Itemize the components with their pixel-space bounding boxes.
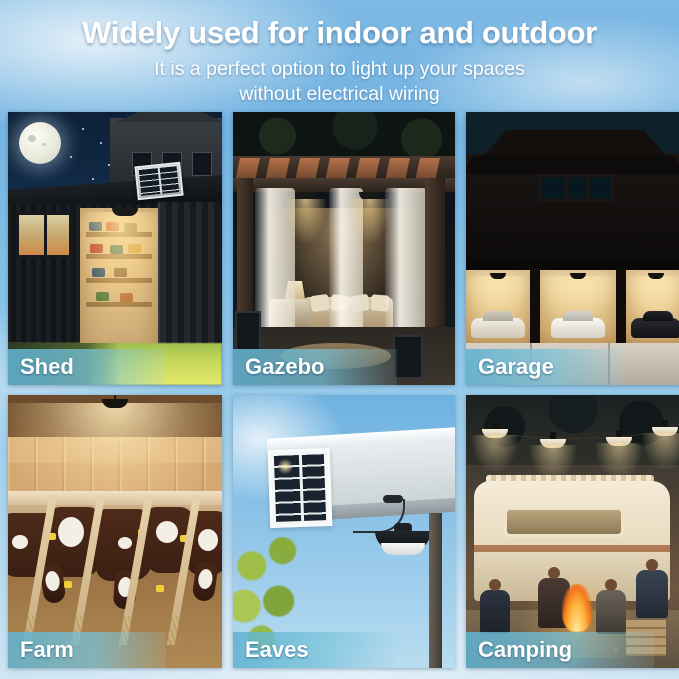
eaves-scene-image <box>233 395 455 668</box>
use-case-grid: Shed <box>8 112 672 668</box>
garage-bay <box>466 270 530 344</box>
gazebo-scene-image <box>233 112 455 385</box>
pendant-light-icon <box>540 439 566 448</box>
pendant-light-icon <box>606 437 632 446</box>
tile-label-gazebo: Gazebo <box>233 349 397 385</box>
farm-scene-image <box>8 395 222 668</box>
tile-label-text: Eaves <box>233 639 309 661</box>
tile-label-shed: Shed <box>8 349 166 385</box>
tile-camping[interactable]: Camping <box>466 395 679 668</box>
solar-panel-icon <box>134 162 183 201</box>
tile-label-garage: Garage <box>466 349 624 385</box>
page-subtitle: It is a perfect option to light up your … <box>0 48 679 107</box>
pendant-light-icon <box>359 192 381 201</box>
person <box>480 590 510 634</box>
garage-bay <box>626 270 679 344</box>
tile-label-camping: Camping <box>466 632 654 668</box>
pendant-light-icon <box>652 427 678 436</box>
tile-label-text: Shed <box>8 356 74 378</box>
tile-label-text: Farm <box>8 639 74 661</box>
person <box>636 570 668 618</box>
person <box>596 590 626 634</box>
pendant-light-icon <box>295 192 317 201</box>
pendant-light-icon <box>482 429 508 438</box>
tile-farm[interactable]: Farm <box>8 395 222 668</box>
solar-lantern-icon <box>393 335 423 379</box>
header: Widely used for indoor and outdoor It is… <box>0 0 679 112</box>
subtitle-line-1: It is a perfect option to light up your … <box>0 57 679 82</box>
solar-panel-icon <box>235 311 261 351</box>
tile-eaves[interactable]: Eaves <box>233 395 455 668</box>
pendant-light-icon <box>112 208 138 216</box>
page-title: Widely used for indoor and outdoor <box>0 0 679 48</box>
campfire-icon <box>562 584 592 632</box>
tile-label-text: Garage <box>466 356 554 378</box>
tile-label-text: Gazebo <box>233 356 324 378</box>
tile-garage[interactable]: Garage <box>466 112 679 385</box>
tile-gazebo[interactable]: Gazebo <box>233 112 455 385</box>
camping-scene-image <box>466 395 679 668</box>
tile-label-farm: Farm <box>8 632 166 668</box>
tile-shed[interactable]: Shed <box>8 112 222 385</box>
garage-scene-image <box>466 112 679 385</box>
solar-panel-icon <box>268 448 333 528</box>
moon-icon <box>19 122 61 164</box>
tile-label-eaves: Eaves <box>233 632 397 668</box>
garage-bay <box>540 270 616 344</box>
shed-scene-image <box>8 112 222 385</box>
tile-label-text: Camping <box>466 639 572 661</box>
subtitle-line-2: without electrical wiring <box>0 82 679 107</box>
